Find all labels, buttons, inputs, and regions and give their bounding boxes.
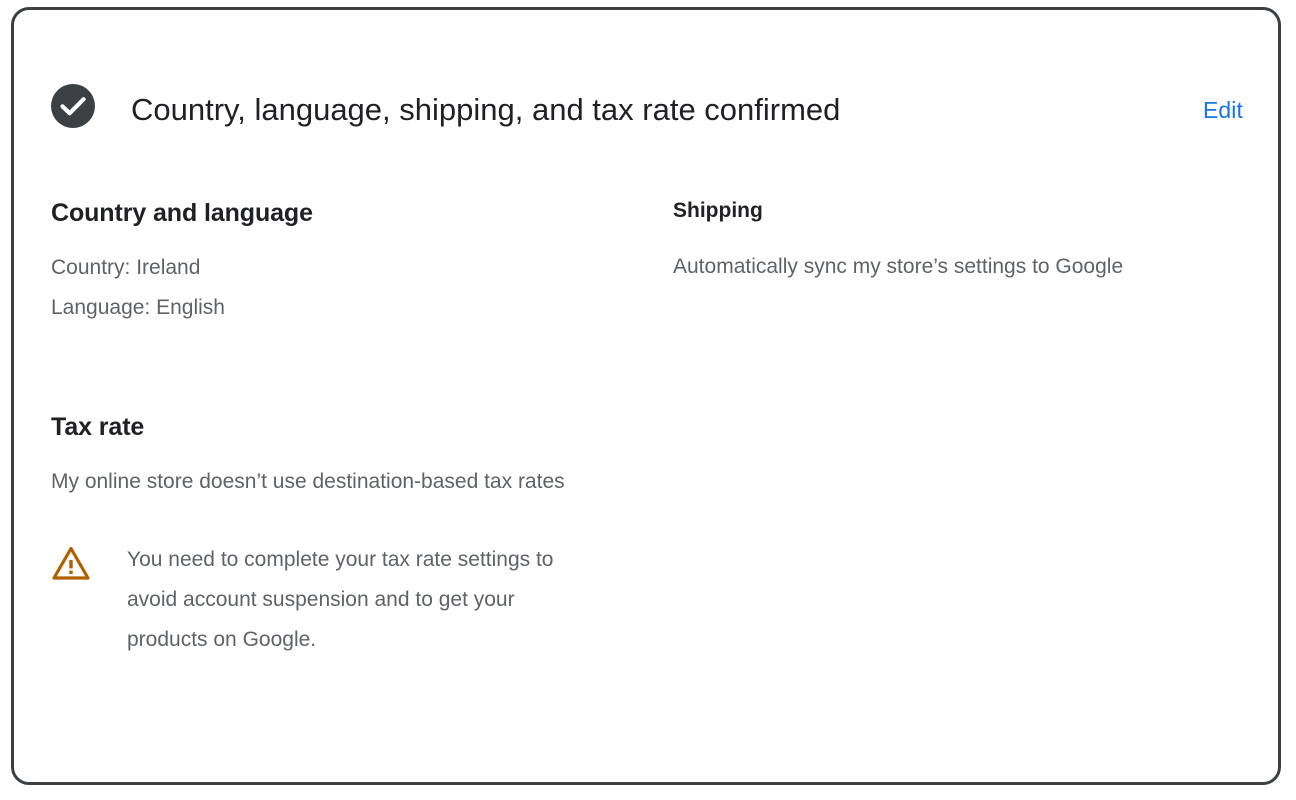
country-and-language-body: Country: Ireland Language: English — [51, 230, 621, 328]
country-and-language-section: Country and language Country: Ireland La… — [51, 196, 621, 328]
check-circle-icon — [51, 84, 95, 128]
tax-rate-section: Tax rate My online store doesn’t use des… — [51, 410, 621, 660]
left-column: Country and language Country: Ireland La… — [51, 196, 621, 660]
warning-message: You need to complete your tax rate setti… — [91, 540, 591, 660]
shipping-section: Shipping Automatically sync my store’s s… — [673, 196, 1233, 287]
tax-rate-warning: You need to complete your tax rate setti… — [51, 540, 591, 660]
country-and-language-heading: Country and language — [51, 196, 621, 230]
shipping-body: Automatically sync my store’s settings t… — [673, 226, 1213, 287]
right-column: Shipping Automatically sync my store’s s… — [673, 196, 1233, 287]
shipping-heading: Shipping — [673, 196, 1233, 226]
warning-triangle-icon — [51, 543, 91, 583]
language-value: Language: English — [51, 288, 621, 328]
card-header: Country, language, shipping, and tax rat… — [14, 10, 1278, 140]
edit-button[interactable]: Edit — [1203, 94, 1243, 126]
tax-rate-body: My online store doesn’t use destination-… — [51, 444, 596, 502]
confirmation-card: Country, language, shipping, and tax rat… — [11, 7, 1281, 785]
tax-rate-heading: Tax rate — [51, 410, 621, 444]
screenshot-root: Country, language, shipping, and tax rat… — [0, 0, 1296, 800]
country-value: Country: Ireland — [51, 248, 621, 288]
card-title: Country, language, shipping, and tax rat… — [131, 88, 840, 132]
